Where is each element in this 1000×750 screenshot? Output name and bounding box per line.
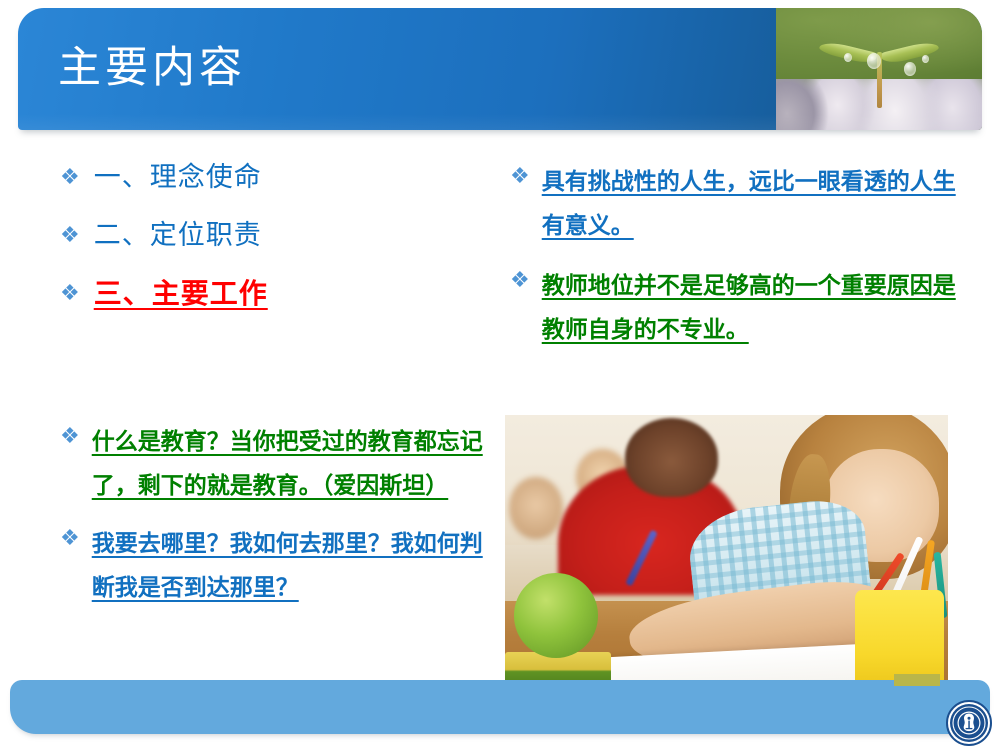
school-seal-logo	[946, 700, 992, 746]
outline-list-left: ❖ 一、理念使命 ❖ 二、定位职责 ❖ 三、主要工作	[60, 160, 460, 334]
seal-icon	[949, 703, 989, 743]
list-item[interactable]: ❖ 什么是教育？当你把受过的教育都忘记了，剩下的就是教育。（爱因斯坦）	[60, 420, 490, 508]
diamond-bullet-icon: ❖	[60, 522, 80, 550]
diamond-bullet-icon: ❖	[60, 420, 80, 448]
list-item-label-highlighted: 三、主要工作	[94, 276, 460, 312]
classroom-photo	[505, 415, 948, 697]
header-bar: 主要内容	[18, 8, 982, 130]
list-item[interactable]: ❖ 二、定位职责	[60, 218, 460, 254]
green-apple	[514, 573, 598, 658]
slide: 主要内容 ❖ 一、理念使命 ❖ 二、定位职责 ❖	[0, 0, 1000, 750]
sprout-photo	[776, 8, 982, 130]
page-title: 主要内容	[58, 38, 246, 98]
list-item[interactable]: ❖ 我要去哪里？我如何去那里？我如何判断我是否到达那里？	[60, 522, 490, 610]
quote-text: 教师地位并不是足够高的一个重要原因是教师自身的不专业。	[542, 264, 965, 352]
quote-text: 具有挑战性的人生，远比一眼看透的人生有意义。	[542, 160, 965, 248]
diamond-bullet-icon: ❖	[510, 160, 530, 188]
quote-text: 什么是教育？当你把受过的教育都忘记了，剩下的就是教育。（爱因斯坦）	[92, 420, 490, 508]
dew-drop	[867, 53, 881, 69]
slide-header: 主要内容	[18, 8, 982, 130]
list-item[interactable]: ❖ 一、理念使命	[60, 160, 460, 196]
list-item[interactable]: ❖ 具有挑战性的人生，远比一眼看透的人生有意义。	[510, 160, 965, 248]
diamond-bullet-icon: ❖	[510, 264, 530, 292]
diamond-bullet-icon: ❖	[60, 218, 80, 247]
list-item-active[interactable]: ❖ 三、主要工作	[60, 276, 460, 312]
quote-text: 我要去哪里？我如何去那里？我如何判断我是否到达那里？	[92, 522, 490, 610]
dew-drop	[904, 62, 916, 76]
quote-list-right: ❖ 具有挑战性的人生，远比一眼看透的人生有意义。 ❖ 教师地位并不是足够高的一个…	[510, 160, 965, 368]
olive-accent-block	[894, 674, 940, 686]
diamond-bullet-icon: ❖	[60, 160, 80, 189]
list-item[interactable]: ❖ 教师地位并不是足够高的一个重要原因是教师自身的不专业。	[510, 264, 965, 352]
quote-list-bottom-left: ❖ 什么是教育？当你把受过的教育都忘记了，剩下的就是教育。（爱因斯坦） ❖ 我要…	[60, 420, 490, 624]
footer-bar	[10, 680, 990, 734]
child-head	[625, 418, 718, 497]
list-item-label: 一、理念使命	[94, 160, 460, 196]
background-child	[509, 477, 562, 539]
list-item-label: 二、定位职责	[94, 218, 460, 254]
dew-drop	[844, 53, 852, 62]
diamond-bullet-icon: ❖	[60, 276, 80, 305]
